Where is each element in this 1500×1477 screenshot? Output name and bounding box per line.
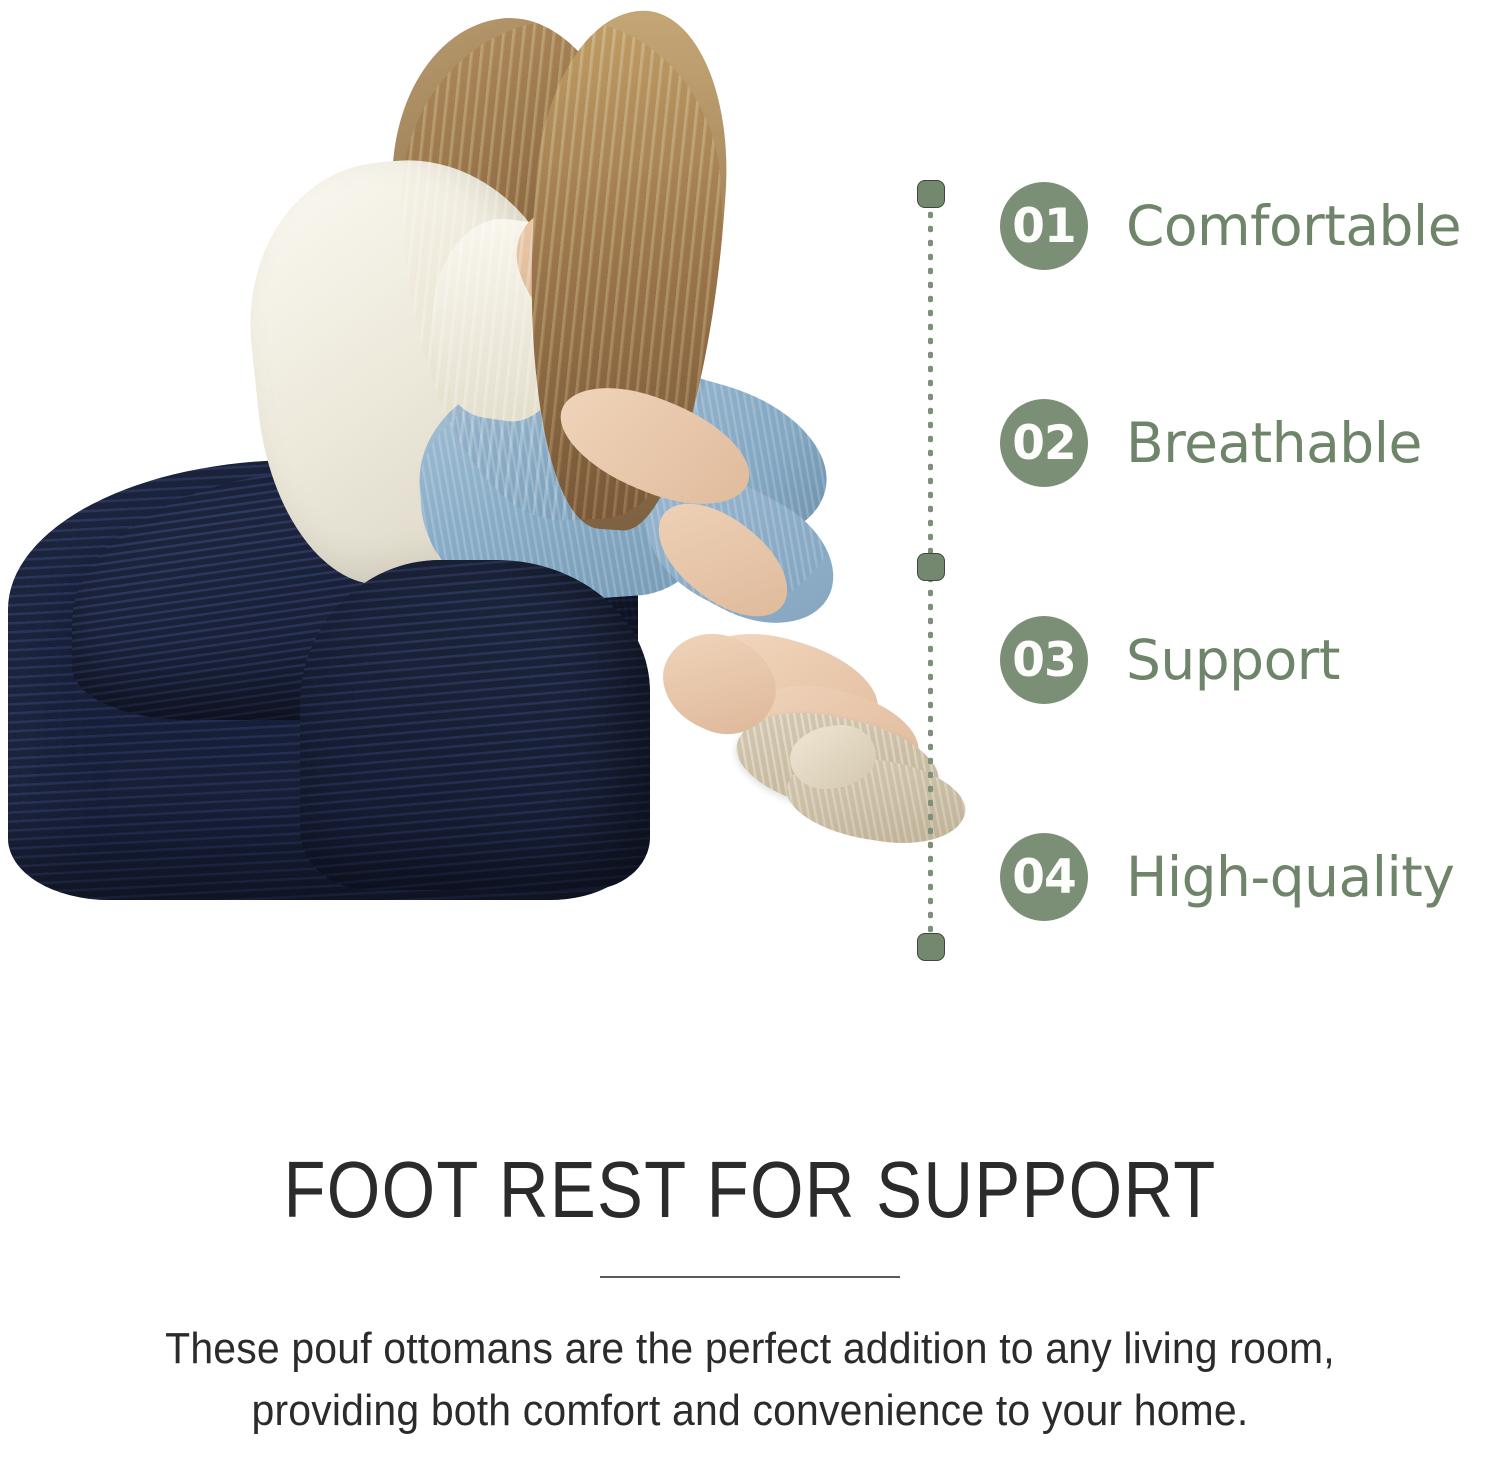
description-paragraph: These pouf ottomans are the perfect addi… bbox=[99, 1318, 1401, 1443]
feature-label-03: Support bbox=[1126, 628, 1340, 692]
feature-label-01: Comfortable bbox=[1126, 194, 1461, 258]
headline: FOOT REST FOR SUPPORT bbox=[105, 1150, 1395, 1230]
pouf-ottoman-front bbox=[300, 560, 650, 890]
feature-label-04: High-quality bbox=[1126, 845, 1454, 909]
product-photo bbox=[0, 0, 980, 920]
feature-item-02: 02 Breathable bbox=[1000, 385, 1500, 501]
feature-item-04: 04 High-quality bbox=[1000, 819, 1500, 935]
feature-label-02: Breathable bbox=[1126, 411, 1422, 475]
hero-section: 01 Comfortable 02 Breathable 03 Support … bbox=[0, 0, 1500, 1130]
timeline-marker-top bbox=[917, 180, 945, 208]
feature-badge-04: 04 bbox=[1000, 833, 1088, 921]
feature-item-03: 03 Support bbox=[1000, 602, 1500, 718]
feature-timeline bbox=[917, 180, 945, 970]
feature-item-01: 01 Comfortable bbox=[1000, 168, 1500, 284]
feature-badge-02: 02 bbox=[1000, 399, 1088, 487]
feature-badge-03: 03 bbox=[1000, 616, 1088, 704]
feature-list: 01 Comfortable 02 Breathable 03 Support … bbox=[1000, 168, 1500, 935]
feature-badge-01: 01 bbox=[1000, 182, 1088, 270]
timeline-marker-bottom bbox=[917, 933, 945, 961]
divider-rule bbox=[600, 1276, 900, 1278]
bottom-text-block: FOOT REST FOR SUPPORT These pouf ottoman… bbox=[0, 1150, 1500, 1443]
timeline-marker-middle bbox=[917, 553, 945, 581]
product-marketing-image: 01 Comfortable 02 Breathable 03 Support … bbox=[0, 0, 1500, 1477]
